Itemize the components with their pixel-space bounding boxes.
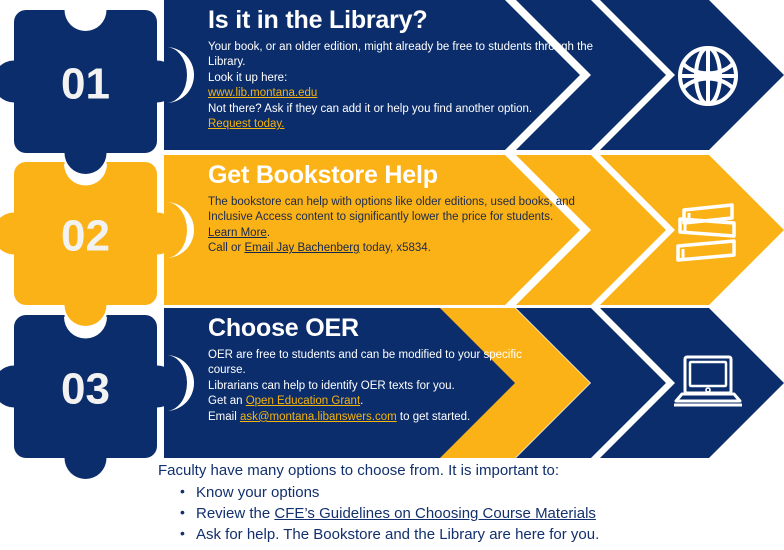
body-text: Get an — [208, 395, 246, 407]
step-text-3: Choose OER OER are free to students and … — [208, 314, 608, 425]
body-link[interactable]: www.lib.montana.edu — [208, 87, 317, 99]
body-line: Library. — [208, 55, 608, 71]
body-line: The bookstore can help with options like… — [208, 195, 608, 211]
body-text: . — [267, 227, 270, 239]
footer-text: Know your options — [196, 484, 319, 501]
puzzle-piece-1: 01 — [0, 0, 175, 175]
footer-text: Review the — [196, 505, 274, 522]
body-text: OER are free to students and can be modi… — [208, 349, 522, 361]
body-line: OER are free to students and can be modi… — [208, 348, 608, 364]
body-line: course. — [208, 363, 608, 379]
body-text: . — [360, 395, 363, 407]
body-link[interactable]: Email Jay Bachenberg — [244, 242, 359, 254]
step-body-3: OER are free to students and can be modi… — [208, 348, 608, 426]
puzzle-number: 03 — [61, 365, 110, 414]
body-text: Not there? Ask if they can add it or hel… — [208, 103, 532, 115]
body-line: Your book, or an older edition, might al… — [208, 40, 608, 56]
body-text: Your book, or an older edition, might al… — [208, 41, 593, 53]
body-line: Learn More. — [208, 226, 608, 242]
body-text: The bookstore can help with options like… — [208, 196, 575, 208]
body-text: Look it up here: — [208, 72, 287, 84]
body-line: Not there? Ask if they can add it or hel… — [208, 102, 608, 118]
body-line: Email ask@montana.libanswers.com to get … — [208, 410, 608, 426]
body-line: Librarians can help to identify OER text… — [208, 379, 608, 395]
footer-link[interactable]: CFE’s Guidelines on Choosing Course Mate… — [274, 505, 596, 522]
body-text: to get started. — [397, 411, 471, 423]
step-text-1: Is it in the Library? Your book, or an o… — [208, 6, 608, 133]
step-text-2: Get Bookstore Help The bookstore can hel… — [208, 161, 608, 257]
step-heading-1: Is it in the Library? — [208, 6, 608, 35]
body-text: today, x5834. — [360, 242, 431, 254]
puzzle-piece-3: 03 — [0, 305, 175, 480]
body-text: Librarians can help to identify OER text… — [208, 380, 455, 392]
footer-text: Ask for help. The Bookstore and the Libr… — [196, 526, 599, 543]
puzzle-number: 02 — [61, 212, 110, 261]
body-link[interactable]: Learn More — [208, 227, 267, 239]
body-line: Inclusive Access content to significantl… — [208, 210, 608, 226]
body-link[interactable]: Request today. — [208, 118, 285, 130]
footer-intro: Faculty have many options to choose from… — [158, 460, 778, 481]
body-line: Request today. — [208, 117, 608, 133]
body-line: Look it up here: — [208, 71, 608, 87]
step-body-1: Your book, or an older edition, might al… — [208, 40, 608, 133]
body-text: Email — [208, 411, 240, 423]
puzzle-number: 01 — [61, 60, 110, 109]
body-line: Get an Open Education Grant. — [208, 394, 608, 410]
footer-bullet: Know your options — [180, 482, 778, 503]
footer-bullet: Review the CFE’s Guidelines on Choosing … — [180, 503, 778, 524]
body-link[interactable]: Open Education Grant — [246, 395, 360, 407]
body-text: course. — [208, 364, 246, 376]
body-link[interactable]: ask@montana.libanswers.com — [240, 411, 397, 423]
step-heading-2: Get Bookstore Help — [208, 161, 608, 190]
footer-bullet: Ask for help. The Bookstore and the Libr… — [180, 524, 778, 545]
step-body-2: The bookstore can help with options like… — [208, 195, 608, 257]
body-text: Inclusive Access content to significantl… — [208, 211, 553, 223]
globe-icon — [680, 48, 736, 104]
body-line: Call or Email Jay Bachenberg today, x583… — [208, 241, 608, 257]
puzzle-piece-2: 02 — [0, 152, 175, 327]
body-line: www.lib.montana.edu — [208, 86, 608, 102]
footer-summary: Faculty have many options to choose from… — [158, 460, 778, 545]
body-text: Call or — [208, 242, 244, 254]
step-heading-3: Choose OER — [208, 314, 608, 343]
footer-bullet-list: Know your optionsReview the CFE’s Guidel… — [158, 482, 778, 545]
body-text: Library. — [208, 56, 246, 68]
